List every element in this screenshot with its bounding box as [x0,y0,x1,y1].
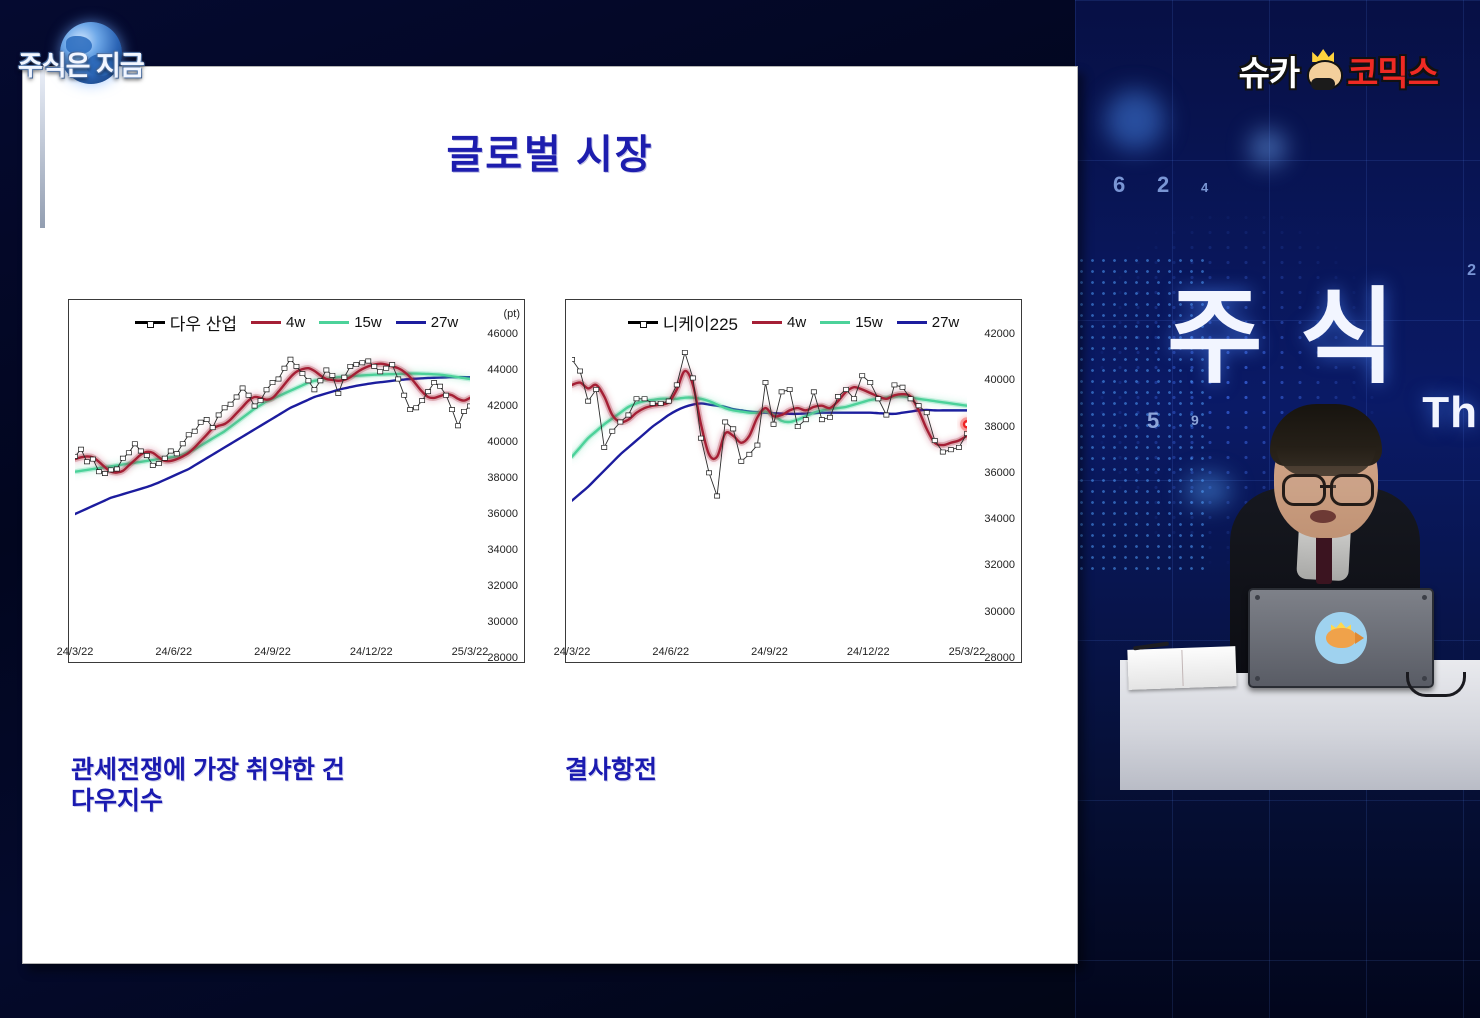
background-subtitle-text: Th [1422,388,1478,438]
y-axis-tick-label: 32000 [984,559,1015,571]
channel-logo-left: 주식은 지금 [18,24,198,88]
legend-item-index: 니케이225 [628,310,738,335]
background-glow [1185,475,1231,505]
background-glow [1250,130,1286,166]
mouth [1310,510,1336,523]
chart-legend: 니케이225 4w 15w 27w [566,310,1021,335]
chart-legend: 다우 산업 4w 15w 27w [69,310,524,335]
x-axis-tick-label: 24/9/22 [254,646,291,658]
caption-left: 관세전쟁에 가장 취약한 건 다우지수 [71,755,501,816]
laptop-sticker [1315,612,1367,664]
chart-nikkei-225: 니케이225 4w 15w 27w 2800030000320003400036… [565,299,1022,663]
background-number: 6 [1113,172,1125,198]
legend-label: 15w [855,314,883,331]
hair [1270,404,1382,466]
legend-item-4w: 4w [251,314,305,331]
legend-item-index: 다우 산업 [135,310,237,335]
chart-dow-industrial: 다우 산업 4w 15w 27w (pt) 28000300003200 [68,299,525,663]
y-axis-tick-label: 38000 [984,421,1015,433]
legend-label: 4w [286,314,305,331]
logo-word-2: 코믹스 [1347,46,1438,95]
background-number: 9 [1191,412,1199,428]
y-axis-tick-label: 40000 [984,374,1015,386]
page-title: 글로벌 시장 [23,122,1077,180]
x-axis-tick-label: 24/9/22 [751,646,788,658]
background-number: 2 [1157,172,1169,198]
x-axis-tick-label: 24/3/22 [554,646,591,658]
y-axis-tick-label: 44000 [487,364,518,376]
laptop-cable [1406,672,1466,697]
plot-area [75,334,470,658]
background-number: 4 [1201,180,1208,195]
legend-swatch-27w [396,321,426,324]
x-axis-tick-label: 24/12/22 [350,646,393,658]
logo-stem [40,68,45,228]
y-axis-tick-label: 38000 [487,472,518,484]
y-axis-tick-label: 34000 [487,544,518,556]
y-axis-tick-label: 32000 [487,580,518,592]
y-axis-unit-label: (pt) [504,308,521,320]
legend-label: 다우 산업 [170,310,237,335]
legend-item-27w: 27w [396,314,459,331]
caption-right: 결사항전 [565,755,985,786]
legend-label: 4w [787,314,806,331]
logo-word-1: 슈카 [1239,46,1300,95]
y-axis-tick-label: 34000 [984,513,1015,525]
crown-mascot-icon [1303,50,1343,90]
legend-item-4w: 4w [752,314,806,331]
legend-swatch-index [628,321,658,324]
legend-label: 니케이225 [663,310,738,335]
presentation-slide: 글로벌 시장 다우 산업 4w 15w 27w [22,66,1078,964]
background-number: 2 [1467,262,1476,280]
open-notebook [1127,646,1236,690]
channel-logo-right: 슈카 코믹스 [1239,46,1438,94]
legend-swatch-index [135,321,165,324]
channel-logo-text: 주식은 지금 [18,44,144,83]
legend-label: 15w [354,314,382,331]
y-axis-tick-label: 28000 [487,652,518,664]
x-axis-tick-label: 25/3/22 [949,646,986,658]
y-axis-tick-label: 28000 [984,652,1015,664]
background-glow [1105,90,1165,150]
y-axis-tick-label: 30000 [487,616,518,628]
glasses-icon [1282,474,1374,500]
legend-swatch-4w [752,321,782,324]
legend-swatch-15w [319,321,349,324]
legend-item-15w: 15w [319,314,382,331]
y-axis-tick-label: 42000 [984,328,1015,340]
background-title-text: 주 식 [1167,252,1399,403]
legend-item-15w: 15w [820,314,883,331]
x-axis-tick-label: 24/12/22 [847,646,890,658]
legend-label: 27w [431,314,459,331]
legend-swatch-27w [897,321,927,324]
x-axis-tick-label: 25/3/22 [452,646,489,658]
background-number: 5 [1147,408,1159,434]
x-axis-tick-label: 24/6/22 [155,646,192,658]
y-axis-tick-label: 42000 [487,400,518,412]
y-axis-tick-label: 30000 [984,606,1015,618]
legend-swatch-4w [251,321,281,324]
x-axis-tick-label: 24/3/22 [57,646,94,658]
y-axis-tick-label: 36000 [984,467,1015,479]
legend-item-27w: 27w [897,314,960,331]
plot-area [572,334,967,658]
legend-label: 27w [932,314,960,331]
y-axis-tick-label: 40000 [487,436,518,448]
y-axis-tick-label: 46000 [487,328,518,340]
video-frame: 6 2 4 5 9 2 주 식 Th 글로벌 시장 [0,0,1480,1018]
legend-swatch-15w [820,321,850,324]
y-axis-tick-label: 36000 [487,508,518,520]
x-axis-tick-label: 24/6/22 [652,646,689,658]
